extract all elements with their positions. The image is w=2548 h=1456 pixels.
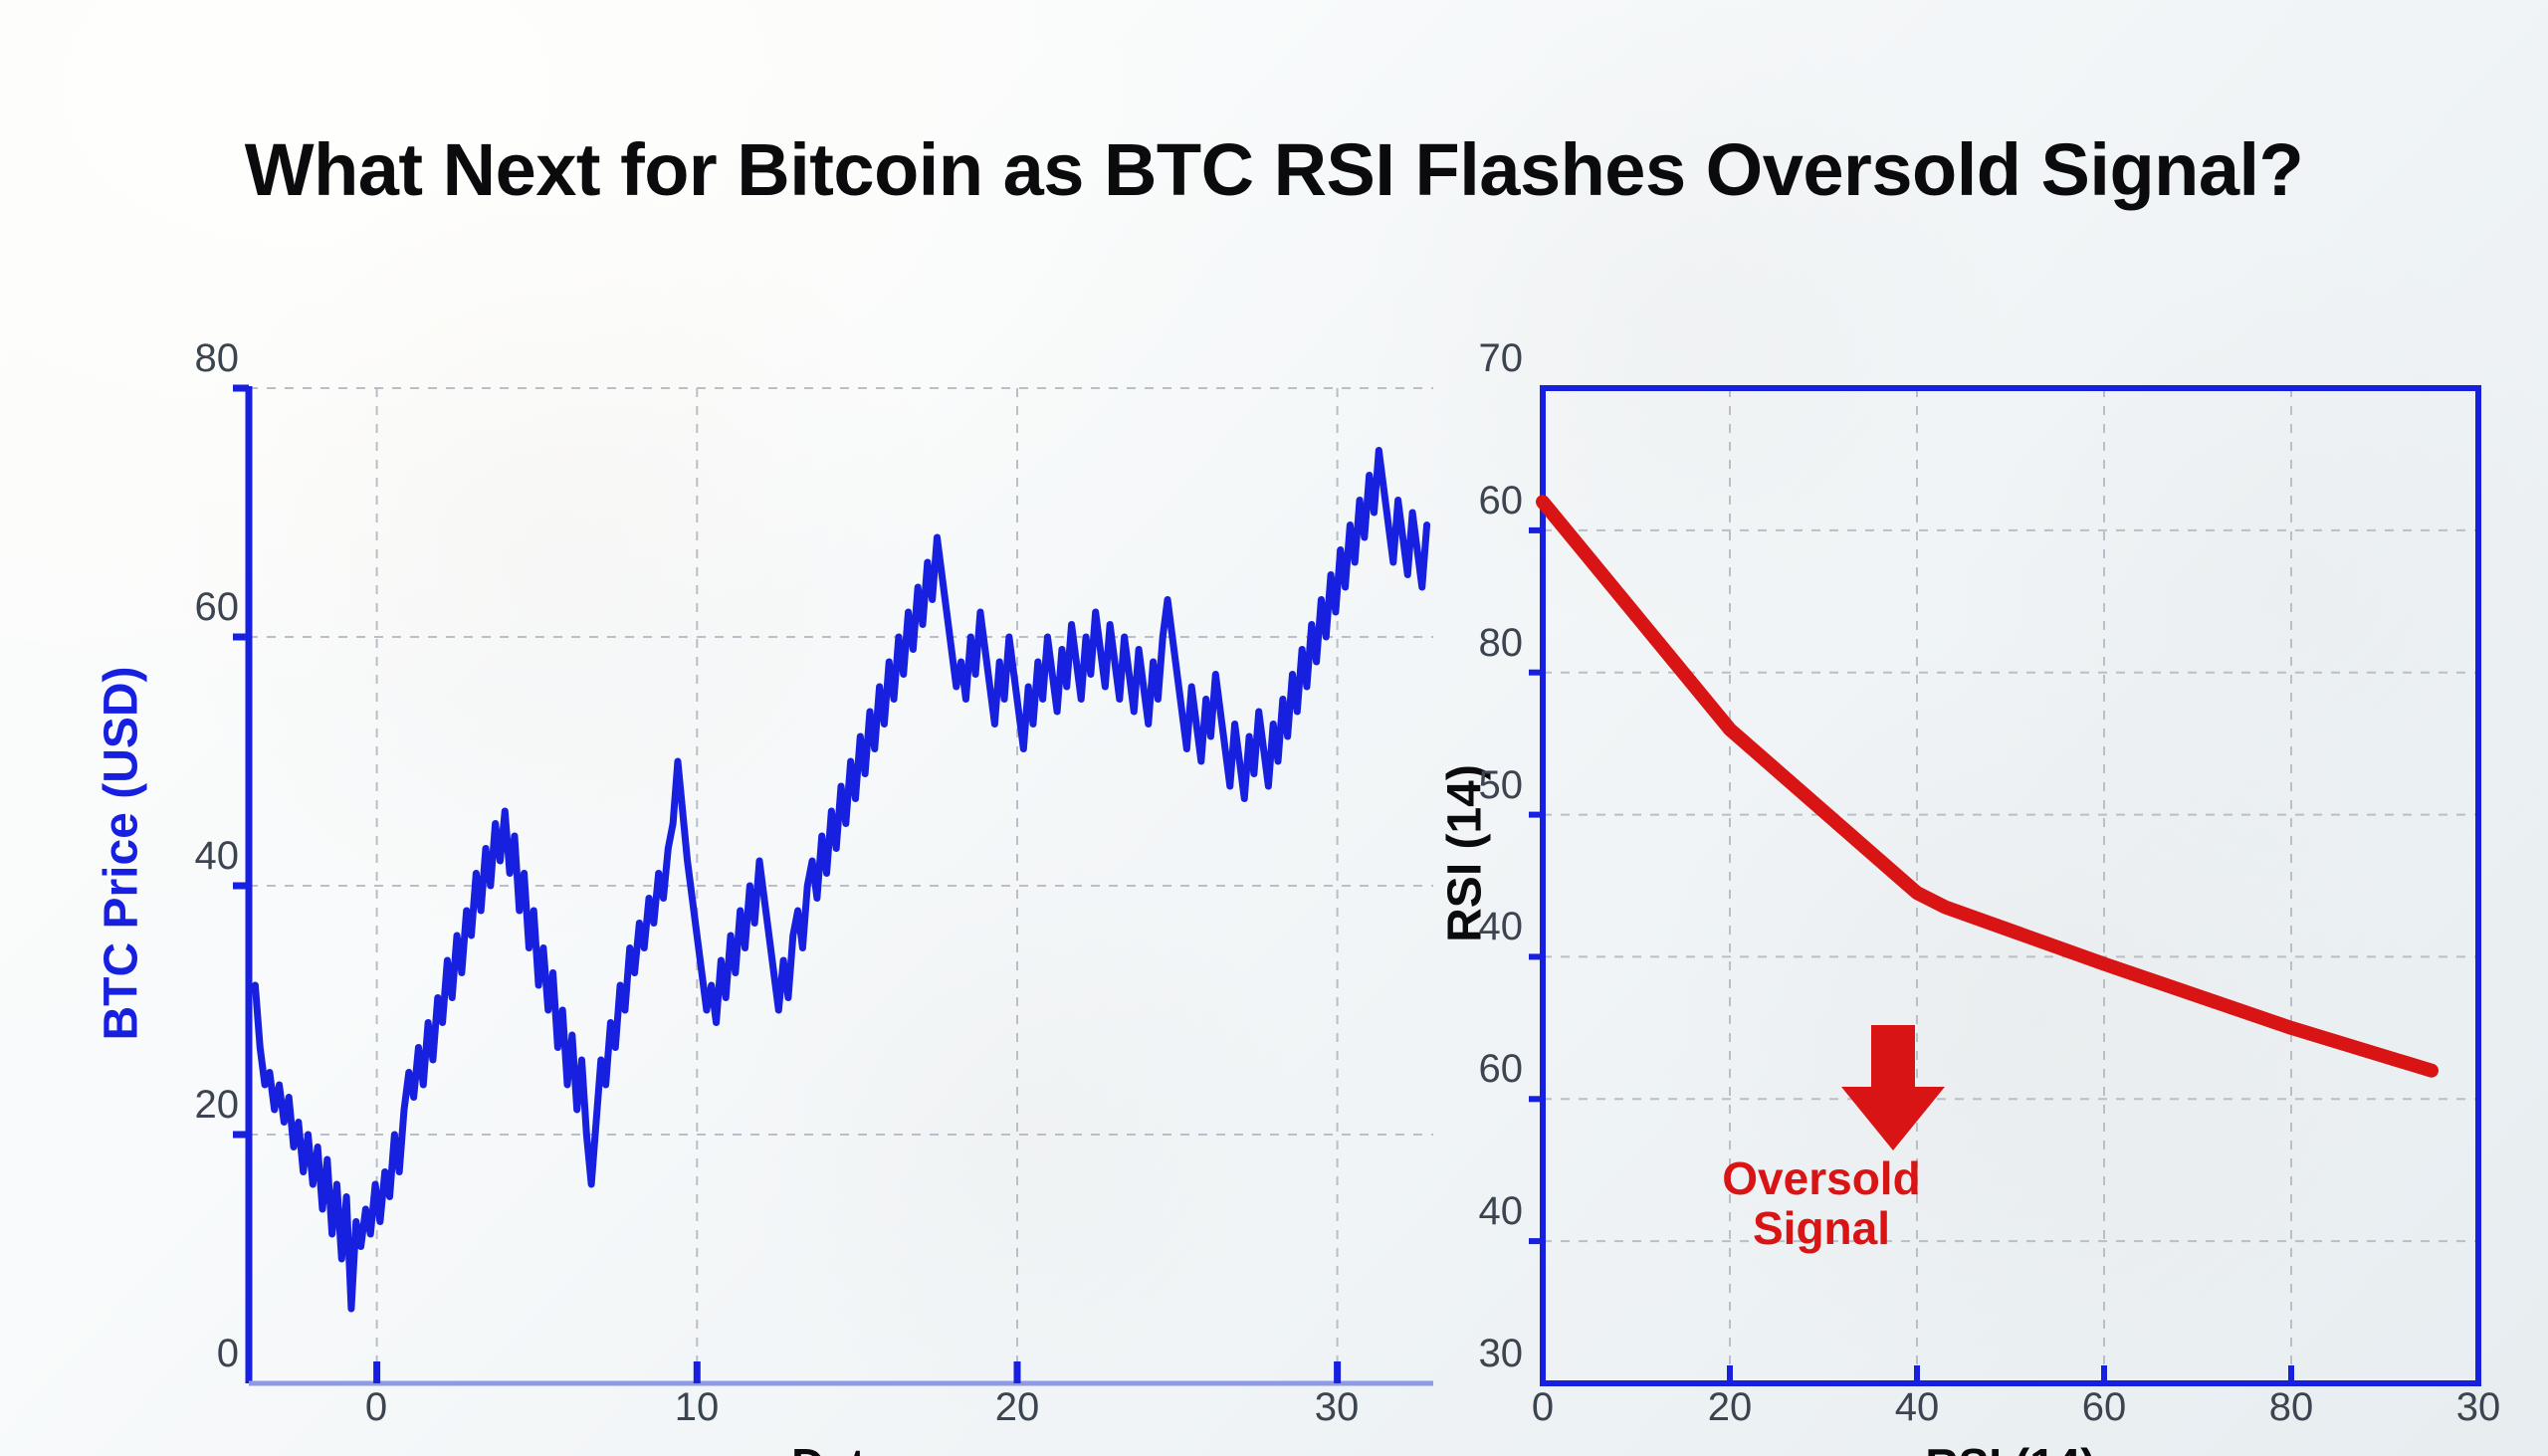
rsi-xtick-0: 0 (1473, 1385, 1612, 1430)
btc-price-plot-area (249, 388, 1433, 1383)
btc-price-ytick-0: 0 (50, 1332, 239, 1376)
rsi-xtick-100: 30 (2409, 1385, 2548, 1430)
btc-price-xtick-10: 10 (627, 1385, 766, 1430)
rsi-line (1543, 502, 2432, 1070)
btc-price-xtick-0: 0 (307, 1385, 446, 1430)
rsi-ytick-70: 70 (1374, 336, 1523, 381)
rsi-ytick-40b: 40 (1374, 1189, 1523, 1234)
oversold-signal-annotation: Oversold Signal (1543, 1154, 2100, 1253)
rsi-chart-panel: RSI (14) RSI (14) 70 60 80 50 40 60 40 3… (1393, 358, 2528, 1393)
btc-price-xtick-30: 30 (1267, 1385, 1406, 1430)
oversold-signal-line1: Oversold (1543, 1154, 2100, 1204)
btc-price-ytick-60: 60 (50, 585, 239, 630)
rsi-ytick-30: 30 (1374, 1332, 1523, 1376)
rsi-xtick-60: 60 (2034, 1385, 2174, 1430)
infographic-root: What Next for Bitcoin as BTC RSI Flashes… (0, 0, 2548, 1456)
rsi-xtick-20: 20 (1660, 1385, 1800, 1430)
btc-price-ytick-80: 80 (50, 336, 239, 381)
rsi-ytick-60a: 60 (1374, 479, 1523, 523)
rsi-x-axis-title: RSI (14) (1543, 1438, 2478, 1456)
rsi-ytick-80: 80 (1374, 621, 1523, 666)
btc-price-x-axis-title: Date (249, 1438, 1433, 1456)
btc-price-chart-panel: BTC Price (USD) Date 80 60 40 20 0 0 10 … (60, 358, 1374, 1393)
rsi-ytick-60b: 60 (1374, 1047, 1523, 1092)
rsi-ytick-40a: 40 (1374, 905, 1523, 949)
rsi-xtick-40: 40 (1847, 1385, 1987, 1430)
btc-price-xtick-20: 20 (948, 1385, 1087, 1430)
btc-price-gridlines (249, 388, 1433, 1383)
oversold-signal-line2: Signal (1543, 1204, 2100, 1254)
rsi-xtick-80: 80 (2222, 1385, 2361, 1430)
btc-price-ytick-20: 20 (50, 1083, 239, 1128)
oversold-down-arrow-icon (1841, 1025, 1945, 1150)
btc-price-ytick-40: 40 (50, 834, 239, 879)
rsi-ytick-50: 50 (1374, 763, 1523, 808)
page-title: What Next for Bitcoin as BTC RSI Flashes… (0, 127, 2548, 212)
btc-price-line (255, 451, 1426, 1310)
